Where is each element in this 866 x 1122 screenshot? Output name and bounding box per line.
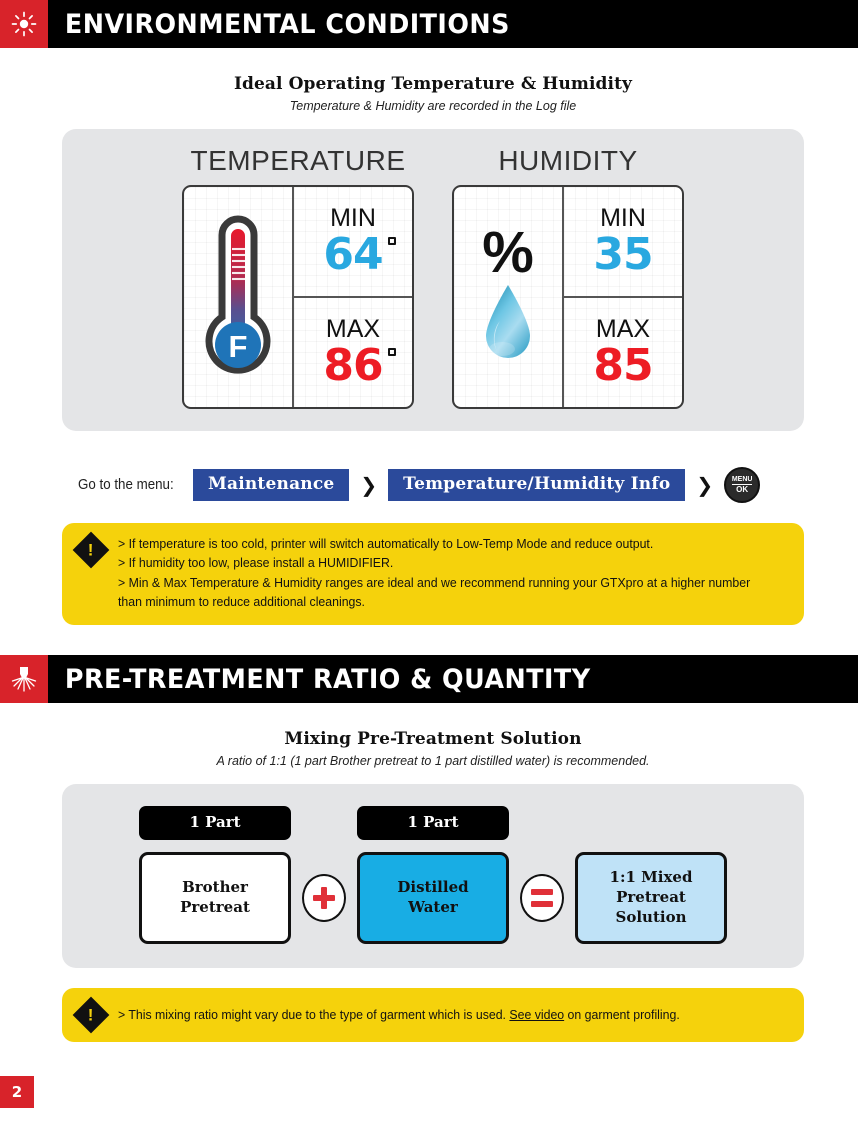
operator-plus-icon bbox=[302, 874, 346, 922]
temperature-max-number: 86 bbox=[323, 340, 382, 391]
warning-icon: ! bbox=[73, 532, 110, 569]
humidity-gauge: HUMIDITY % bbox=[452, 145, 684, 409]
temperature-values: MIN 64 MAX 86 bbox=[294, 187, 412, 407]
warning-icon: ! bbox=[73, 997, 110, 1034]
mix-group-distilled-water: 1 Part Distilled Water bbox=[357, 806, 509, 944]
menu-ok-button[interactable]: MENU OK bbox=[724, 467, 760, 503]
temperature-card: F MIN 64 MAX 86 bbox=[182, 185, 414, 409]
chevron-right-icon: ❯ bbox=[696, 473, 713, 497]
mix-box-distilled-water: Distilled Water bbox=[357, 852, 509, 944]
temperature-min-number: 64 bbox=[323, 229, 382, 280]
mix-group-brother-pretreat: 1 Part Brother Pretreat bbox=[139, 806, 291, 944]
section-header-environmental: ENVIRONMENTAL CONDITIONS bbox=[0, 0, 858, 48]
block-subtitle-environmental: Temperature & Humidity are recorded in t… bbox=[0, 99, 866, 113]
humidity-icon-cell: % bbox=[454, 187, 564, 407]
block-title-environmental: Ideal Operating Temperature & Humidity bbox=[0, 74, 866, 94]
temperature-max-value: 86 bbox=[323, 344, 382, 388]
thermometer-icon: F bbox=[184, 187, 294, 407]
humidity-values: MIN 35 MAX 85 bbox=[564, 187, 682, 407]
menu-ok-bottom-label: OK bbox=[736, 485, 748, 494]
chevron-right-icon: ❯ bbox=[360, 473, 377, 497]
block-subtitle-pretreatment: A ratio of 1:1 (1 part Brother pretreat … bbox=[0, 754, 866, 768]
environment-note-line: > If humidity too low, please install a … bbox=[118, 554, 766, 573]
section-header-pretreatment: PRE-TREATMENT RATIO & QUANTITY bbox=[0, 655, 858, 703]
temperature-max-label: MAX bbox=[326, 317, 380, 342]
spray-nozzle-icon bbox=[0, 655, 48, 703]
menu-ok-top-label: MENU bbox=[732, 476, 753, 485]
percent-icon: % bbox=[482, 227, 534, 279]
humidity-min-cell: MIN 35 bbox=[564, 187, 682, 298]
environment-note-line: > Min & Max Temperature & Humidity range… bbox=[118, 574, 766, 613]
sun-icon bbox=[0, 0, 48, 48]
see-video-link[interactable]: See video bbox=[509, 1008, 564, 1022]
part-badge-two: 1 Part bbox=[357, 806, 509, 840]
degree-icon bbox=[388, 237, 396, 245]
menu-path-row: Go to the menu: Maintenance ❯ Temperatur… bbox=[78, 467, 866, 503]
humidity-min-value: 35 bbox=[593, 233, 652, 277]
environmental-conditions-header-wrap: ENVIRONMENTAL CONDITIONS bbox=[0, 0, 866, 48]
temperature-max-cell: MAX 86 bbox=[294, 298, 412, 407]
environment-note-lines: > If temperature is too cold, printer wi… bbox=[118, 535, 766, 612]
menu-chip-maintenance[interactable]: Maintenance bbox=[193, 469, 349, 501]
environment-note-line: > If temperature is too cold, printer wi… bbox=[118, 535, 766, 554]
temperature-min-label: MIN bbox=[330, 206, 376, 231]
block-title-pretreatment: Mixing Pre-Treatment Solution bbox=[0, 729, 866, 749]
pretreatment-header-wrap: PRE-TREATMENT RATIO & QUANTITY bbox=[0, 655, 866, 703]
humidity-max-cell: MAX 85 bbox=[564, 298, 682, 407]
pretreatment-warning-note: ! > This mixing ratio might vary due to … bbox=[62, 988, 804, 1042]
temperature-min-cell: MIN 64 bbox=[294, 187, 412, 298]
section-title-environmental: ENVIRONMENTAL CONDITIONS bbox=[48, 0, 809, 48]
humidity-max-value: 85 bbox=[593, 344, 652, 388]
page-number: 2 bbox=[0, 1076, 34, 1108]
temperature-label: TEMPERATURE bbox=[191, 145, 406, 177]
menu-path-lead-label: Go to the menu: bbox=[78, 477, 174, 493]
menu-chip-temperature-humidity-info[interactable]: Temperature/Humidity Info bbox=[388, 469, 685, 501]
temperature-gauge: TEMPERATURE bbox=[182, 145, 414, 409]
degree-icon bbox=[388, 348, 396, 356]
pretreatment-note-line: > This mixing ratio might vary due to th… bbox=[118, 1006, 680, 1025]
pretreatment-note-lines: > This mixing ratio might vary due to th… bbox=[118, 1006, 680, 1025]
pretreatment-note-text-before: > This mixing ratio might vary due to th… bbox=[118, 1008, 509, 1022]
humidity-min-label: MIN bbox=[600, 206, 646, 231]
pretreatment-note-text-after: on garment profiling. bbox=[564, 1008, 680, 1022]
humidity-label: HUMIDITY bbox=[498, 145, 637, 177]
environment-warning-note: ! > If temperature is too cold, printer … bbox=[62, 523, 804, 625]
water-drop-icon bbox=[478, 281, 538, 367]
mix-group-mixed-solution: 1:1 Mixed Pretreat Solution bbox=[575, 806, 727, 944]
mix-box-brother-pretreat: Brother Pretreat bbox=[139, 852, 291, 944]
temperature-min-value: 64 bbox=[323, 233, 382, 277]
gauges-panel: TEMPERATURE bbox=[62, 129, 804, 431]
humidity-card: % bbox=[452, 185, 684, 409]
mix-box-mixed-solution: 1:1 Mixed Pretreat Solution bbox=[575, 852, 727, 944]
svg-text:F: F bbox=[229, 329, 248, 364]
operator-equals-icon bbox=[520, 874, 564, 922]
humidity-max-label: MAX bbox=[596, 317, 650, 342]
mixing-diagram-panel: 1 Part Brother Pretreat 1 Part Distilled… bbox=[62, 784, 804, 968]
part-badge-one: 1 Part bbox=[139, 806, 291, 840]
section-title-pretreatment: PRE-TREATMENT RATIO & QUANTITY bbox=[48, 655, 809, 703]
